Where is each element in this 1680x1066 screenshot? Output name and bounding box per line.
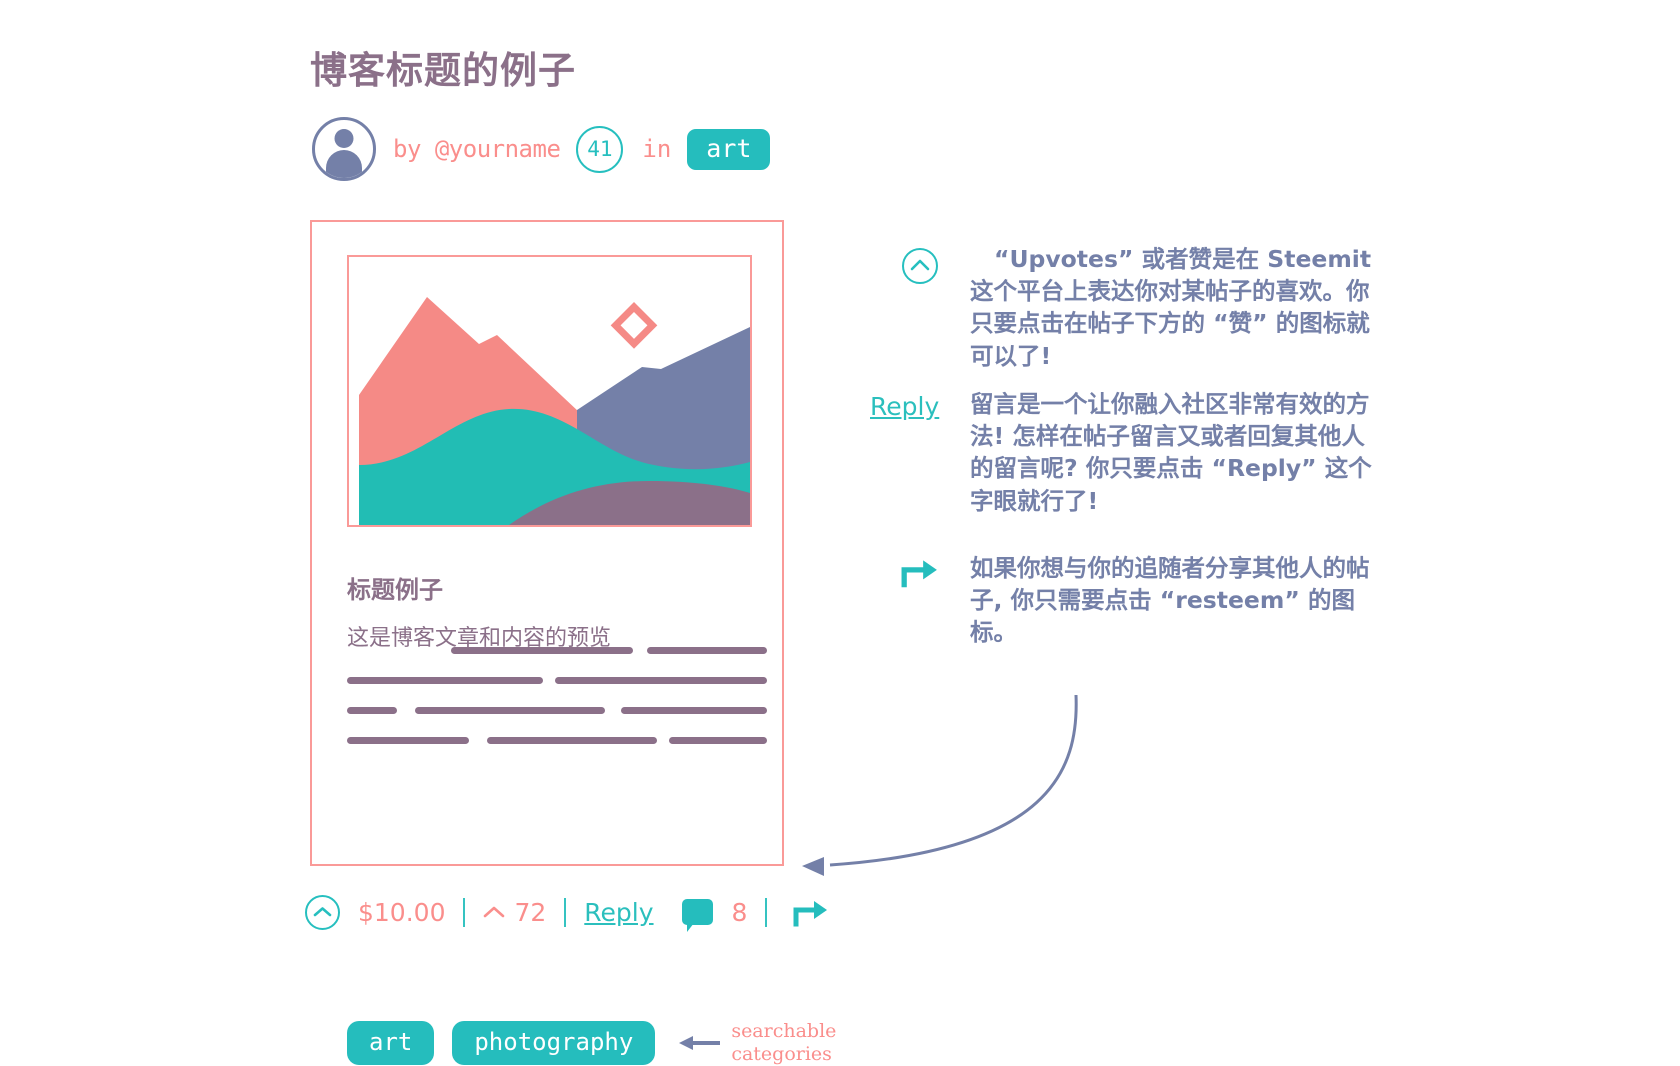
note-resteem: 如果你想与你的追随者分享其他人的帖子, 你只需要点击 “resteem” 的图标… [870,552,1380,649]
avatar-head-shape [335,129,354,148]
chevron-up-icon[interactable] [483,905,505,919]
note-upvote: “Upvotes” 或者赞是在 Steemit 这个平台上表达你对某帖子的喜欢。… [870,243,1380,372]
upvote-circle-icon [870,243,970,285]
searchable-line-1: searchable [731,1020,836,1043]
placeholder-line [347,677,543,684]
reputation-badge: 41 [576,126,623,173]
tag-art[interactable]: art [347,1021,434,1065]
post-action-bar: $10.00 72 Reply 8 [305,890,829,934]
divider [765,898,767,927]
divider [564,898,566,927]
placeholder-line [347,707,397,714]
placeholder-line [347,737,469,744]
searchable-categories-label: searchable categories [731,1020,836,1066]
curved-connector-arrow [780,690,1100,894]
reply-label[interactable]: Reply [870,392,939,421]
placeholder-line-row [347,707,752,714]
placeholder-line [669,737,767,744]
placeholder-line [415,707,605,714]
avatar-body-shape [326,150,362,180]
vote-count: 72 [514,898,546,927]
upvote-chevron-icon[interactable] [305,895,340,930]
note-resteem-text: 如果你想与你的追随者分享其他人的帖子, 你只需要点击 “resteem” 的图标… [970,552,1380,649]
placeholder-line [487,737,657,744]
placeholder-line-row [347,677,752,684]
payout-value[interactable]: $10.00 [358,898,445,927]
tag-row: art photography searchable categories [347,1020,836,1066]
tag-photography[interactable]: photography [452,1021,655,1065]
post-thumbnail [347,255,752,527]
placeholder-line [647,647,767,654]
note-reply: Reply 留言是一个让你融入社区非常有效的方法! 怎样在帖子留言又或者回复其他… [870,388,1380,517]
note-upvote-text: “Upvotes” 或者赞是在 Steemit 这个平台上表达你对某帖子的喜欢。… [970,243,1380,372]
placeholder-line [451,647,633,654]
reply-link[interactable]: Reply [584,898,653,927]
post-card[interactable]: 标题例子 这是博客文章和内容的预览 art photography search… [310,220,784,866]
diamond-icon [616,307,653,344]
placeholder-line-row [347,647,752,654]
resteem-arrow-icon[interactable] [793,897,829,927]
reply-text-link[interactable]: Reply [870,388,970,421]
author-name[interactable]: by @yourname [393,135,560,163]
placeholder-line [621,707,767,714]
placeholder-line [555,677,767,684]
category-pill[interactable]: art [687,129,770,170]
note-reply-text: 留言是一个让你融入社区非常有效的方法! 怎样在帖子留言又或者回复其他人的留言呢?… [970,388,1380,517]
placeholder-line-row [347,737,752,744]
post-card-title: 标题例子 [347,570,443,605]
comment-count: 8 [732,898,748,927]
page-title: 博客标题的例子 [310,40,576,94]
resteem-arrow-icon [870,552,970,588]
left-arrow-icon [679,1034,721,1052]
comment-bubble-icon[interactable] [682,899,713,925]
avatar[interactable] [312,117,376,181]
byline-row: by @yourname 41 in art [312,123,770,175]
in-label: in [642,135,671,163]
divider [463,898,465,927]
searchable-line-2: categories [731,1043,836,1066]
mountain-landscape-illustration [349,257,750,525]
